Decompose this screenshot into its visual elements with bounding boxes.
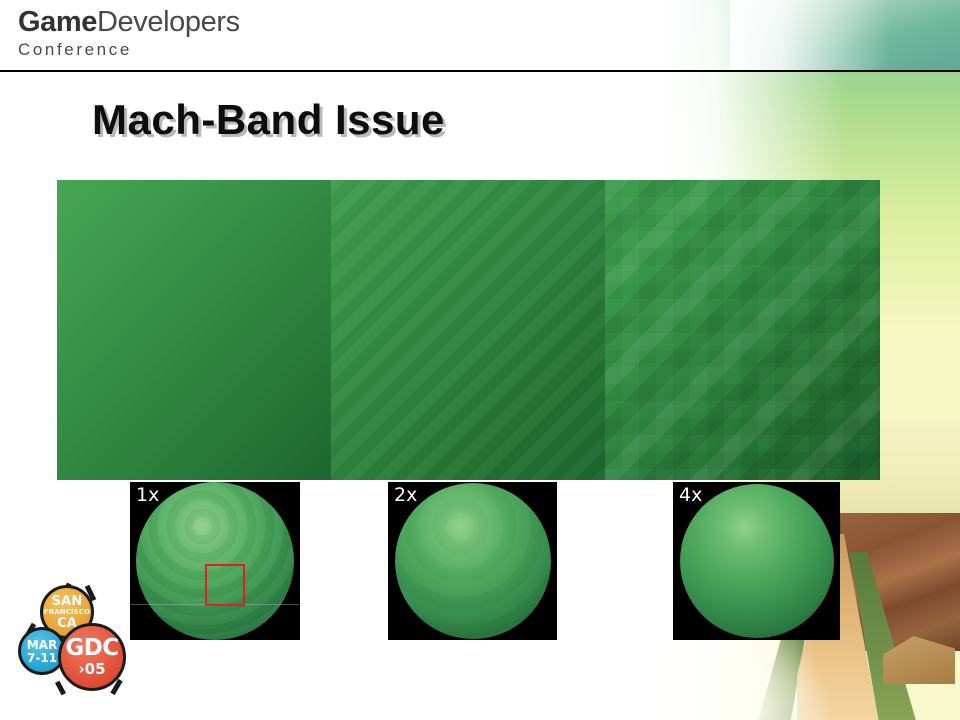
- sphere-banding-overlay: [395, 483, 551, 639]
- sphere-panel-2x: 2x: [388, 482, 557, 640]
- gradient-comparison-strip: [57, 180, 880, 480]
- badge-event-name: GDC: [65, 637, 118, 660]
- background-gradient-header-right: [730, 0, 960, 72]
- badge-event-year: ›05: [78, 662, 105, 677]
- gdc-logo-game: Game: [18, 6, 97, 38]
- shaded-sphere: [395, 483, 551, 639]
- gdc-logo-developers: Developers: [97, 6, 240, 38]
- shaded-sphere: [136, 482, 294, 640]
- header-divider: [0, 70, 960, 72]
- badge-location-line1: SAN: [52, 595, 83, 608]
- region-of-interest-box: [205, 564, 245, 606]
- panel-label-4x: 4x: [679, 484, 702, 507]
- badge-stem: [55, 681, 66, 696]
- sphere-banding-overlay: [136, 482, 294, 640]
- gdc-logo: GameDevelopers Conference: [18, 8, 240, 58]
- page-title: Mach-Band Issue: [92, 96, 445, 144]
- banding-overlay: [331, 180, 605, 480]
- sphere-panel-1x: 1x: [130, 482, 300, 640]
- shaded-sphere: [680, 484, 834, 638]
- badge-dates-days: 7-11: [27, 652, 57, 664]
- gradient-segment-light-banding: [331, 180, 605, 480]
- badge-location-line2: FRANCISCO: [44, 609, 90, 616]
- sphere-panel-4x: 4x: [673, 482, 840, 640]
- gradient-segment-heavy-banding: [605, 180, 880, 480]
- gdc-logo-conference: Conference: [18, 41, 240, 58]
- conference-badge: SAN FRANCISCO CA MAR 7-11 GDC ›05: [18, 583, 138, 703]
- panel-label-1x: 1x: [136, 484, 159, 507]
- gradient-segment-smooth: [57, 180, 331, 480]
- slide-canvas: GameDevelopers Conference Mach-Band Issu…: [0, 0, 960, 720]
- panel-label-2x: 2x: [394, 484, 417, 507]
- gradient-fill: [57, 180, 331, 480]
- badge-dates-month: MAR: [27, 639, 57, 651]
- gdc-logo-brand: GameDevelopers: [18, 8, 240, 37]
- badge-event-bubble: GDC ›05: [58, 623, 126, 691]
- quantization-blocks-overlay: [605, 180, 880, 480]
